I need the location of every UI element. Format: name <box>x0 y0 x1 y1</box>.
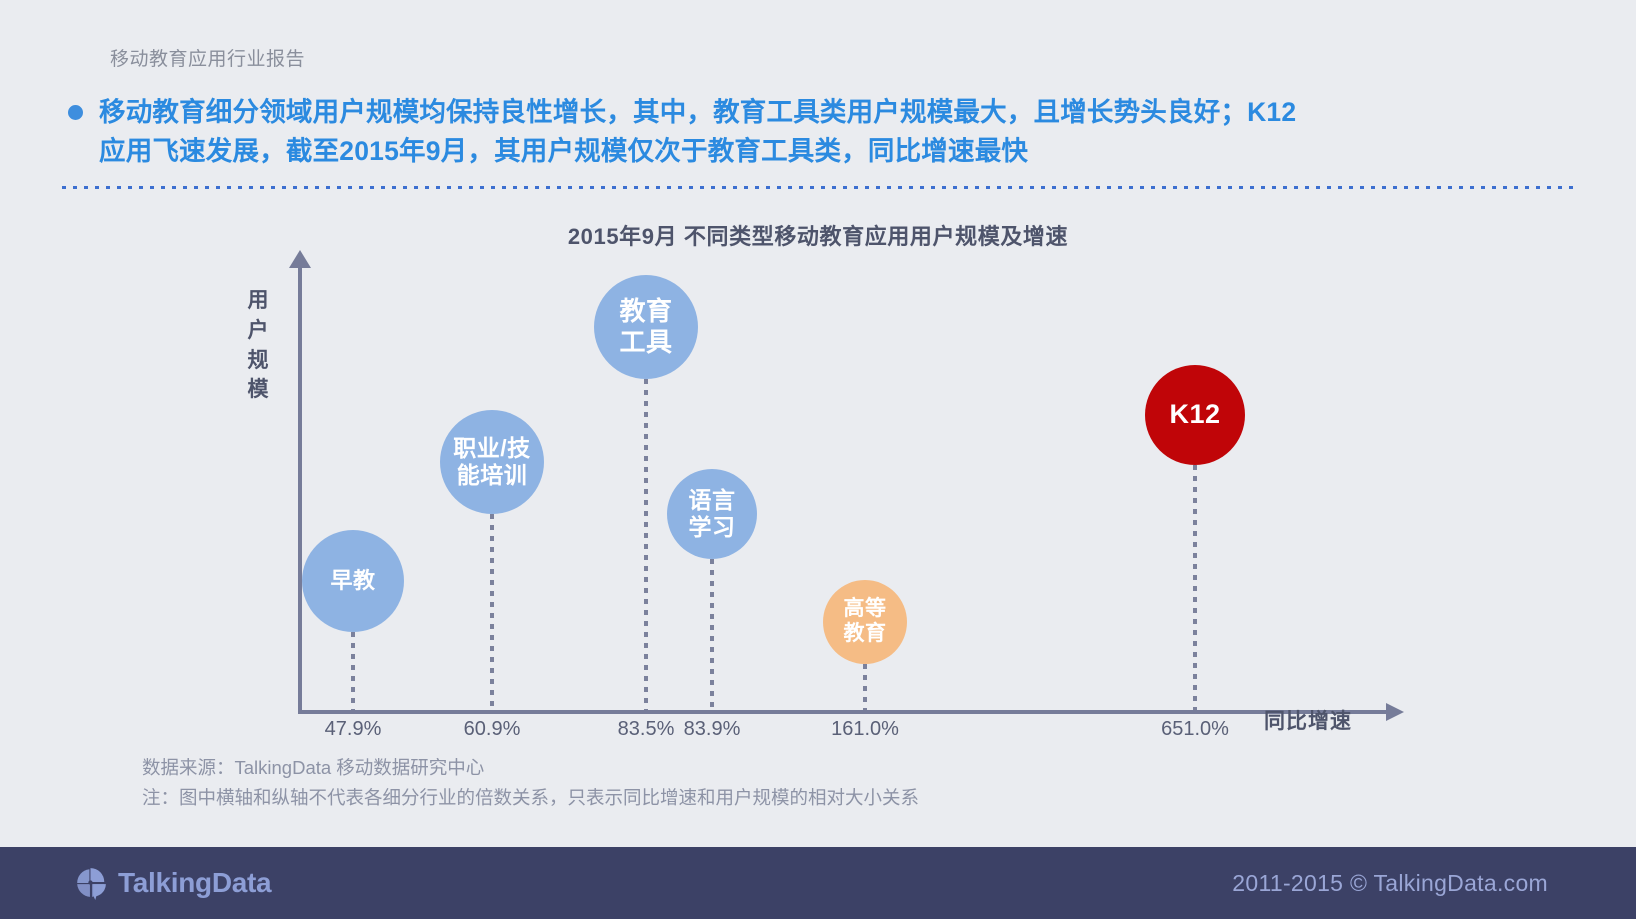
bubble-stem <box>1193 465 1197 710</box>
page-title: 移动教育细分领域用户规模均保持良性增长，其中，教育工具类用户规模最大，且增长势头… <box>99 93 1296 171</box>
x-tick-label: 60.9% <box>464 718 521 741</box>
bubble-chart: 用 户 规 模 同比增速 早教47.9%职业/技能培训60.9%教育工具83.5… <box>0 250 1636 770</box>
bubble-label: 职业/技能培训 <box>453 435 530 489</box>
bubble-K12[interactable]: K12 <box>1145 365 1245 465</box>
headline-line-2: 应用飞速发展，截至2015年9月，其用户规模仅次于教育工具类，同比增速最快 <box>99 132 1296 171</box>
bubble-label: 语言学习 <box>689 487 736 541</box>
bubble-stem <box>351 632 355 710</box>
brand-name: TalkingData <box>118 867 271 899</box>
bubble-label: 早教 <box>330 568 375 594</box>
bubble-stem <box>710 559 714 710</box>
chart-title: 2015年9月 不同类型移动教育应用用户规模及增速 <box>0 219 1636 251</box>
bubble-stem <box>863 664 867 710</box>
report-kicker: 移动教育应用行业报告 <box>110 44 305 71</box>
x-tick-label: 83.5% <box>618 718 675 741</box>
bubble-label: K12 <box>1169 399 1220 431</box>
y-axis-label-char-4: 模 <box>243 375 273 405</box>
x-tick-label: 47.9% <box>325 718 382 741</box>
x-tick-label: 83.9% <box>684 718 741 741</box>
disclaimer-note: 注：图中横轴和纵轴不代表各细分行业的倍数关系，只表示同比增速和用户规模的相对大小… <box>142 783 919 813</box>
talkingdata-logo-icon <box>74 866 108 900</box>
bullet-dot-icon <box>68 105 83 120</box>
y-axis-label-char-1: 用 <box>243 286 273 316</box>
bubble-高等教育[interactable]: 高等教育 <box>823 580 907 664</box>
bubble-语言学习[interactable]: 语言学习 <box>667 469 757 559</box>
x-axis-line <box>298 710 1388 714</box>
x-axis-arrow-icon <box>1386 703 1404 721</box>
headline-line-1: 移动教育细分领域用户规模均保持良性增长，其中，教育工具类用户规模最大，且增长势头… <box>99 93 1296 132</box>
footnotes: 数据来源：TalkingData 移动数据研究中心 注：图中横轴和纵轴不代表各细… <box>142 753 919 813</box>
bubble-早教[interactable]: 早教 <box>302 530 404 632</box>
bubble-label: 高等教育 <box>844 597 887 647</box>
bubble-stem <box>490 514 494 710</box>
y-axis-line <box>298 262 302 714</box>
bubble-stem <box>644 379 648 710</box>
data-source-note: 数据来源：TalkingData 移动数据研究中心 <box>142 753 919 783</box>
bubble-职业/技能培训[interactable]: 职业/技能培训 <box>440 410 544 514</box>
slide-root: 移动教育应用行业报告 移动教育细分领域用户规模均保持良性增长，其中，教育工具类用… <box>0 0 1636 919</box>
y-axis-label: 用 户 规 模 <box>243 286 273 405</box>
bubble-label: 教育工具 <box>619 296 672 357</box>
dotted-divider <box>62 186 1574 189</box>
y-axis-label-char-3: 规 <box>243 346 273 376</box>
x-tick-label: 161.0% <box>831 718 899 741</box>
x-axis-label: 同比增速 <box>1264 705 1352 735</box>
y-axis-label-char-2: 户 <box>243 316 273 346</box>
bubble-教育工具[interactable]: 教育工具 <box>594 275 698 379</box>
brand-block: TalkingData <box>74 866 271 900</box>
headline-block: 移动教育细分领域用户规模均保持良性增长，其中，教育工具类用户规模最大，且增长势头… <box>68 93 1526 171</box>
x-tick-label: 651.0% <box>1161 718 1229 741</box>
copyright-text: 2011-2015 © TalkingData.com <box>1232 870 1548 897</box>
footer-bar: TalkingData 2011-2015 © TalkingData.com <box>0 847 1636 919</box>
